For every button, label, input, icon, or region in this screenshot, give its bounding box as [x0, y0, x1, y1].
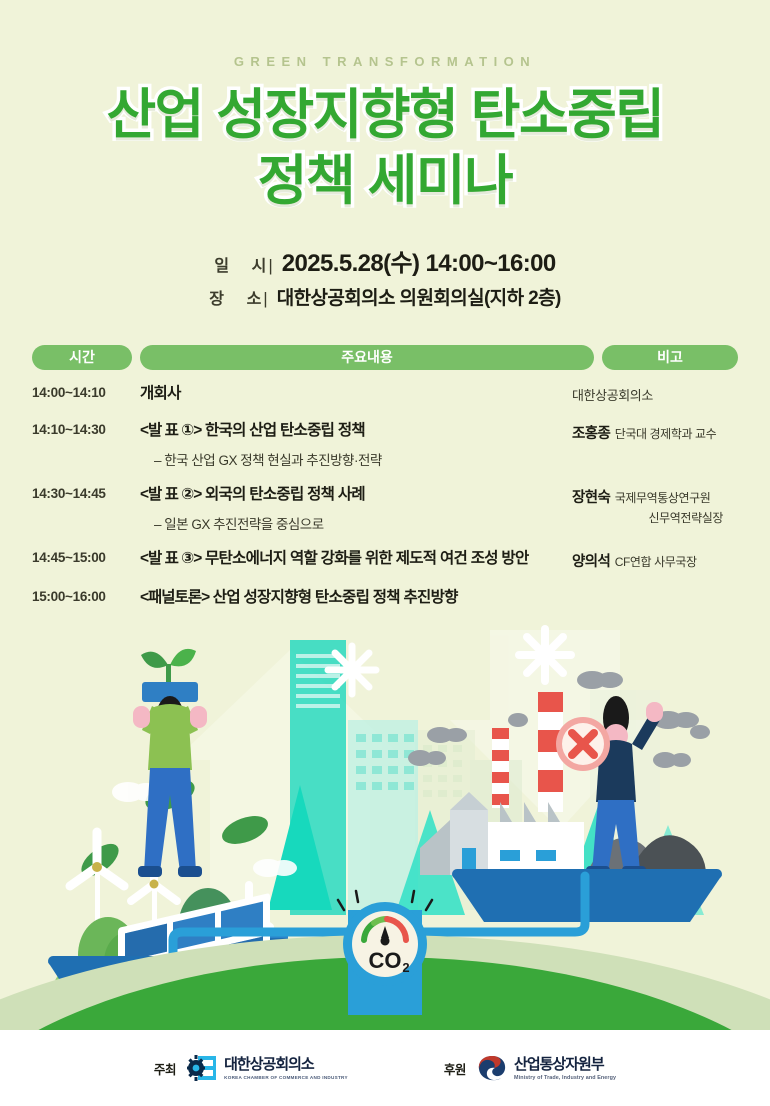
- row-note: 조홍종 단국대 경제학과 교수: [572, 421, 738, 469]
- row-note: 대한상공회의소: [572, 384, 738, 405]
- row-subtitle: – 한국 산업 GX 정책 현실과 추진방향·전략: [140, 449, 564, 469]
- info-label-date-b: 시: [252, 252, 267, 276]
- row-subtitle: – 일본 GX 추진전략을 중심으로: [140, 513, 564, 533]
- table-row: 14:45~15:00 <발 표 ③> 무탄소에너지 역할 강화를 위한 제도적…: [32, 549, 738, 571]
- info-label-date-a: 일: [214, 252, 229, 276]
- page-title: 산업 성장지향형 탄소중립 정책 세미나: [0, 84, 770, 213]
- info-label-venue-b: 소: [247, 285, 262, 309]
- hand-icon: [190, 706, 207, 728]
- table-row: 14:30~14:45 <발 표 ②> 외국의 탄소중립 정책 사례 – 일본 …: [32, 485, 738, 533]
- footer-sponsors: 주최: [0, 1030, 770, 1106]
- program-table-header: 시간 주요내용 비고: [0, 345, 770, 370]
- hand-icon: [646, 702, 663, 722]
- host-tagline: KOREA CHAMBER OF COMMERCE AND INDUSTRY: [224, 1075, 348, 1080]
- title-line-1: 산업 성장지향형 탄소중립: [0, 84, 770, 148]
- prohibition-icon: [556, 717, 610, 771]
- row-tag: <발 표 ①>: [140, 422, 201, 439]
- row-content: <발 표 ②> 외국의 탄소중립 정책 사례 – 일본 GX 추진전략을 중심으…: [140, 485, 572, 533]
- note-organization: 대한상공회의소: [572, 388, 653, 403]
- eyebrow-text: GREEN TRANSFORMATION: [0, 54, 770, 69]
- info-label-date: 일 시: [214, 252, 266, 276]
- row-tag: <발 표 ②>: [140, 486, 201, 503]
- row-title: 외국의 탄소중립 정책 사례: [205, 486, 365, 503]
- row-title: 개회사: [140, 384, 564, 405]
- kcci-logo-text: 대한상공회의소 KOREA CHAMBER OF COMMERCE AND IN…: [224, 1056, 348, 1080]
- kcci-gear-icon: [187, 1055, 217, 1081]
- footer-sponsor: 후원 산업통상자원부 Ministry of Trade, Industry a…: [444, 1054, 616, 1082]
- note-speaker-affiliation: 단국대 경제학과 교수: [615, 427, 717, 441]
- info-value-date: 2025.5.28(수) 14:00~16:00: [282, 243, 556, 278]
- row-note: 장현숙 국제무역통상연구원 신무역전략실장: [572, 485, 738, 533]
- row-title: 한국의 산업 탄소중립 정책: [205, 422, 365, 439]
- sponsor-name: 산업통상자원부: [514, 1056, 604, 1073]
- info-row-venue: 장 소 | 대한상공회의소 의원회의실(지하 2층): [209, 283, 560, 310]
- row-time: 14:45~15:00: [32, 549, 140, 571]
- table-row: 14:00~14:10 개회사 대한상공회의소: [32, 384, 738, 405]
- note-speaker-name: 조홍종: [572, 426, 610, 442]
- table-row: 14:10~14:30 <발 표 ①> 한국의 산업 탄소중립 정책 – 한국 …: [32, 421, 738, 469]
- row-time: 14:00~14:10: [32, 384, 140, 405]
- column-header-main: 주요내용: [140, 345, 594, 370]
- sponsor-tagline: Ministry of Trade, Industry and Energy: [514, 1075, 616, 1081]
- info-label-venue-a: 장: [209, 285, 224, 309]
- sponsor-role-label: 후원: [444, 1059, 466, 1078]
- row-title-wrap: <발 표 ③> 무탄소에너지 역할 강화를 위한 제도적 여건 조성 방안: [140, 549, 564, 570]
- row-title-wrap: <패널토론> 산업 성장지향형 탄소중립 정책 추진방향: [140, 588, 564, 609]
- gauge-label-subscript: 2: [402, 960, 409, 975]
- title-line-2: 정책 세미나: [0, 150, 770, 214]
- host-name: 대한상공회의소: [224, 1056, 314, 1073]
- info-value-venue: 대한상공회의소 의원회의실(지하 2층): [277, 283, 561, 310]
- seminar-poster: GREEN TRANSFORMATION 산업 성장지향형 탄소중립 정책 세미…: [0, 0, 770, 1106]
- row-tag: <발 표 ③>: [140, 550, 201, 567]
- column-header-time: 시간: [32, 345, 132, 370]
- note-speaker-affiliation: CF연합 사무국장: [615, 555, 697, 569]
- illustration: CO 2: [0, 610, 770, 1030]
- motie-logo-text: 산업통상자원부 Ministry of Trade, Industry and …: [514, 1056, 616, 1081]
- note-speaker-affiliation: 국제무역통상연구원: [615, 491, 711, 505]
- footer-host: 주최: [154, 1055, 348, 1081]
- column-header-note: 비고: [602, 345, 738, 370]
- host-role-label: 주최: [154, 1059, 176, 1078]
- row-title: 산업 성장지향형 탄소중립 정책 추진방향: [213, 589, 458, 606]
- row-content: <발 표 ③> 무탄소에너지 역할 강화를 위한 제도적 여건 조성 방안: [140, 549, 572, 571]
- info-label-venue: 장 소: [209, 285, 261, 309]
- kcci-logo: 대한상공회의소 KOREA CHAMBER OF COMMERCE AND IN…: [187, 1055, 348, 1081]
- taegeuk-icon: [477, 1054, 507, 1082]
- motie-logo: 산업통상자원부 Ministry of Trade, Industry and …: [477, 1054, 616, 1082]
- shirt: [148, 704, 192, 770]
- gauge-label: CO: [369, 948, 402, 973]
- event-info: 일 시 | 2025.5.28(수) 14:00~16:00 장 소 | 대한상…: [0, 243, 770, 310]
- note-speaker-affiliation-line2: 신무역전략실장: [572, 509, 723, 526]
- row-tag: <패널토론>: [140, 589, 209, 606]
- row-content: <발 표 ①> 한국의 산업 탄소중립 정책 – 한국 산업 GX 정책 현실과…: [140, 421, 572, 469]
- info-row-date: 일 시 | 2025.5.28(수) 14:00~16:00: [214, 243, 555, 278]
- row-title-wrap: <발 표 ①> 한국의 산업 탄소중립 정책: [140, 421, 564, 442]
- info-separator-date: |: [268, 256, 272, 276]
- row-time: 14:10~14:30: [32, 421, 140, 469]
- note-speaker-name: 양의석: [572, 554, 610, 570]
- row-content: 개회사: [140, 384, 572, 405]
- info-separator-venue: |: [263, 289, 267, 309]
- row-time: 14:30~14:45: [32, 485, 140, 533]
- row-note: 양의석 CF연합 사무국장: [572, 549, 738, 571]
- hand-icon: [133, 706, 150, 728]
- row-title-wrap: <발 표 ②> 외국의 탄소중립 정책 사례: [140, 485, 564, 506]
- note-speaker-name: 장현숙: [572, 490, 610, 506]
- row-title: 무탄소에너지 역할 강화를 위한 제도적 여건 조성 방안: [205, 550, 529, 567]
